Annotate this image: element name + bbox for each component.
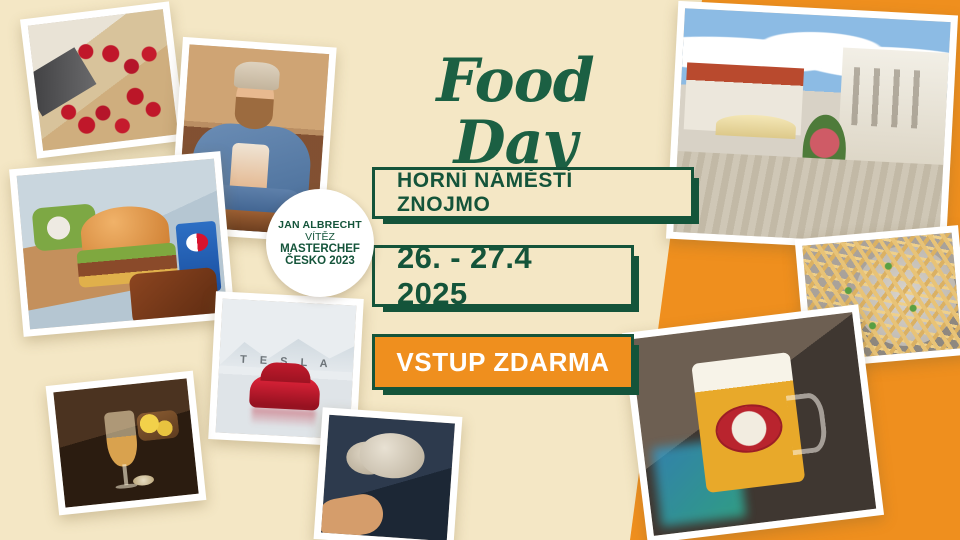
masterchef-badge: JAN ALBRECHT VÍTĚZ MASTERCHEF ČESKO 2023 [266, 189, 374, 297]
poster-canvas: T E S L A Food D [0, 0, 960, 540]
venue-label: HORNÍ NÁMĚSTÍ ZNOJMO [372, 167, 694, 219]
badge-line-title: VÍTĚZ [305, 231, 335, 243]
photo-cocktail [46, 371, 207, 516]
venue-box: HORNÍ NÁMĚSTÍ ZNOJMO [372, 167, 694, 219]
photo-burger [9, 151, 235, 337]
badge-line-year: ČESKO 2023 [285, 255, 355, 267]
badge-line-name: JAN ALBRECHT [278, 219, 362, 231]
date-box: 26. - 27.4 2025 [372, 245, 634, 307]
badge-line-show: MASTERCHEF [280, 243, 360, 255]
free-entry-label: VSTUP ZDARMA [372, 334, 634, 390]
free-entry-button[interactable]: VSTUP ZDARMA [372, 334, 634, 390]
photo-ice-cream [314, 407, 463, 540]
date-label: 26. - 27.4 2025 [372, 245, 634, 307]
photo-beer-mug [622, 304, 884, 540]
photo-town-square [666, 1, 958, 253]
photo-pizza [20, 1, 186, 158]
logo-title: Food Day [370, 50, 660, 174]
